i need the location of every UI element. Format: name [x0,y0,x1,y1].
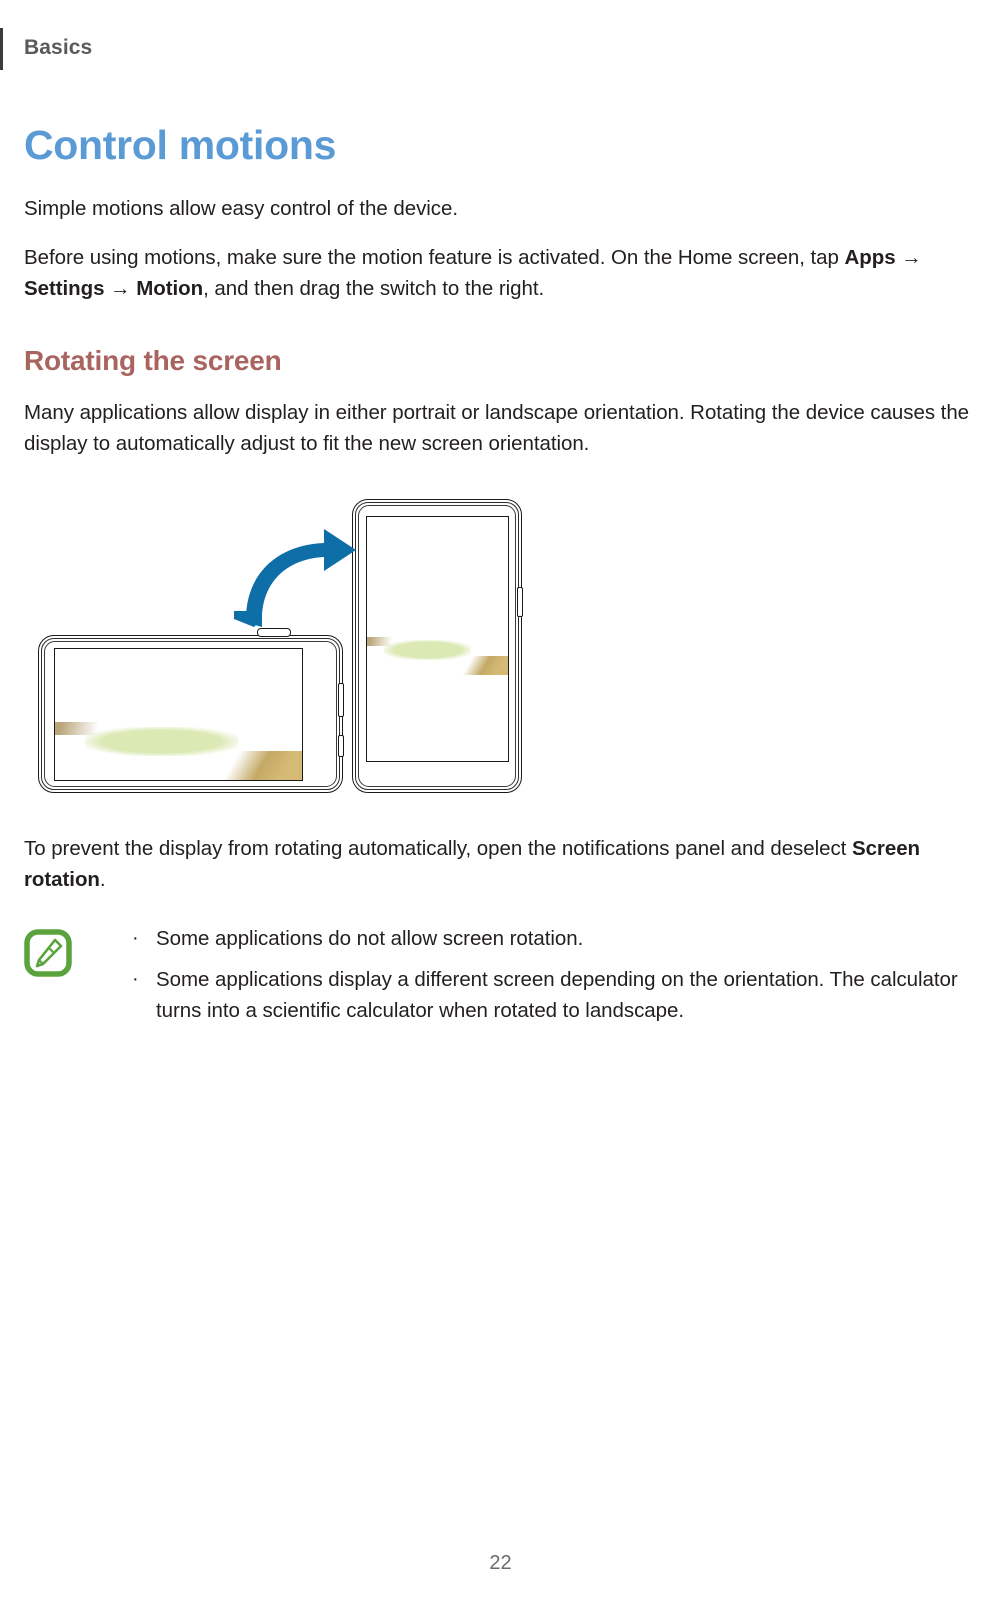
closing-tail: . [100,868,106,891]
setup-tail: , and then drag the switch to the right. [203,277,544,300]
list-item: · Some applications display a different … [128,964,976,1026]
tablet-portrait-screen [366,516,509,762]
setup-paragraph: Before using motions, make sure the moti… [24,242,976,304]
camera-bump-icon [257,628,291,637]
volume-key-icon [517,587,523,617]
note-callout: · Some applications do not allow screen … [24,923,976,1026]
page-title: Control motions [24,124,976,167]
menu-step-apps: Apps [845,246,896,269]
menu-arrow-1: → [896,246,922,269]
running-header: Basics [24,36,92,60]
tablet-portrait-orientation [352,499,522,793]
bullet-glyph: · [132,964,139,994]
note-icon-wrapper [24,929,80,982]
page-number: 22 [0,1552,1001,1575]
menu-step-settings: Settings [24,277,104,300]
rotation-arrow-icon [232,523,362,628]
portrait-photo [367,588,508,676]
tablet-landscape-screen [54,648,303,781]
menu-step-motion: Motion [136,277,203,300]
section-paragraph: Many applications allow display in eithe… [24,397,976,459]
bullet-glyph: · [132,923,139,953]
list-item-text: Some applications display a different sc… [156,968,958,1022]
closing-lead: To prevent the display from rotating aut… [24,837,852,860]
menu-arrow-2: → [104,277,136,300]
page-edge-rule [0,28,3,70]
note-icon [24,929,72,977]
setup-lead: Before using motions, make sure the moti… [24,246,845,269]
page-content: Control motions Simple motions allow eas… [24,124,976,1027]
intro-paragraph: Simple motions allow easy control of the… [24,193,976,224]
tablet-landscape-orientation [38,635,343,793]
screen-rotation-diagram [24,485,976,815]
note-bullet-list: · Some applications do not allow screen … [80,923,976,1026]
closing-paragraph: To prevent the display from rotating aut… [24,833,976,895]
section-title: Rotating the screen [24,345,976,377]
list-item: · Some applications do not allow screen … [128,923,976,954]
volume-key-icon [338,683,344,717]
list-item-text: Some applications do not allow screen ro… [156,927,583,950]
landscape-photo [55,649,302,780]
power-key-icon [338,735,344,757]
